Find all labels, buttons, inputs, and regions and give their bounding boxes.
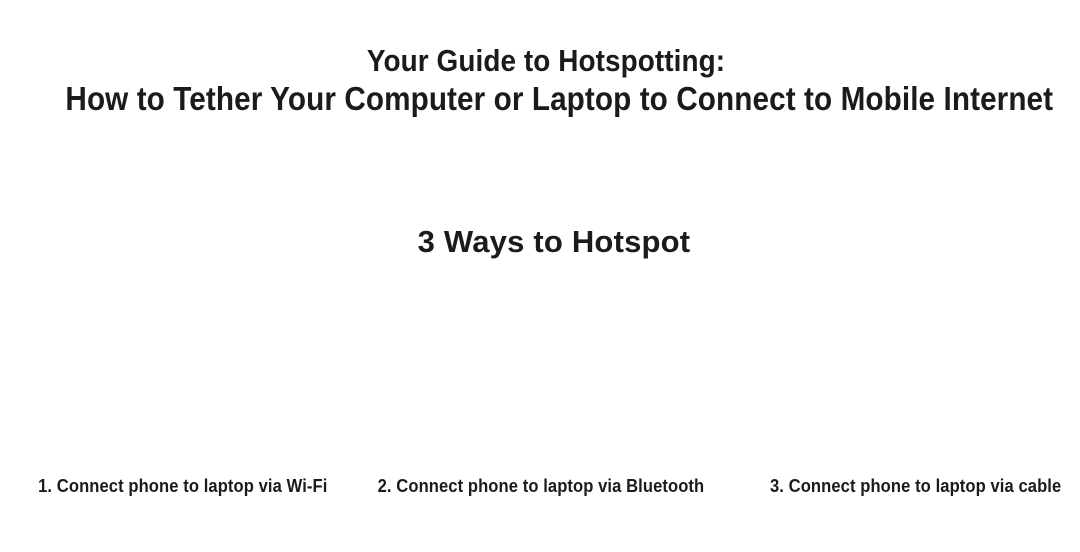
title-line-2: How to Tether Your Computer or Laptop to… [65,80,1026,118]
step-caption-1: 1. Connect phone to laptop via Wi-Fi [14,475,345,497]
poster-title: Your Guide to Hotspotting: How to Tether… [0,42,1080,118]
step-column-1: 1. Connect phone to laptop via Wi-Fi [0,290,360,552]
step-caption-3: 3. Connect phone to laptop via cable [734,475,1065,497]
title-line-1: Your Guide to Hotspotting: [65,42,1026,80]
section-heading: 3 Ways to Hotspot [0,222,1080,262]
steps-area: 1. Connect phone to laptop via Wi-Fi 2. … [0,290,1080,552]
phone-to-laptop-bluetooth-illustration [360,290,720,475]
phone-to-laptop-wifi-illustration [0,290,360,475]
infographic-poster: Your Guide to Hotspotting: How to Tether… [0,0,1080,552]
step-column-3: 3. Connect phone to laptop via cable [720,290,1080,552]
phone-to-laptop-cable-illustration [720,290,1080,475]
step-column-2: 2. Connect phone to laptop via Bluetooth [360,290,720,552]
step-caption-2: 2. Connect phone to laptop via Bluetooth [374,475,705,497]
